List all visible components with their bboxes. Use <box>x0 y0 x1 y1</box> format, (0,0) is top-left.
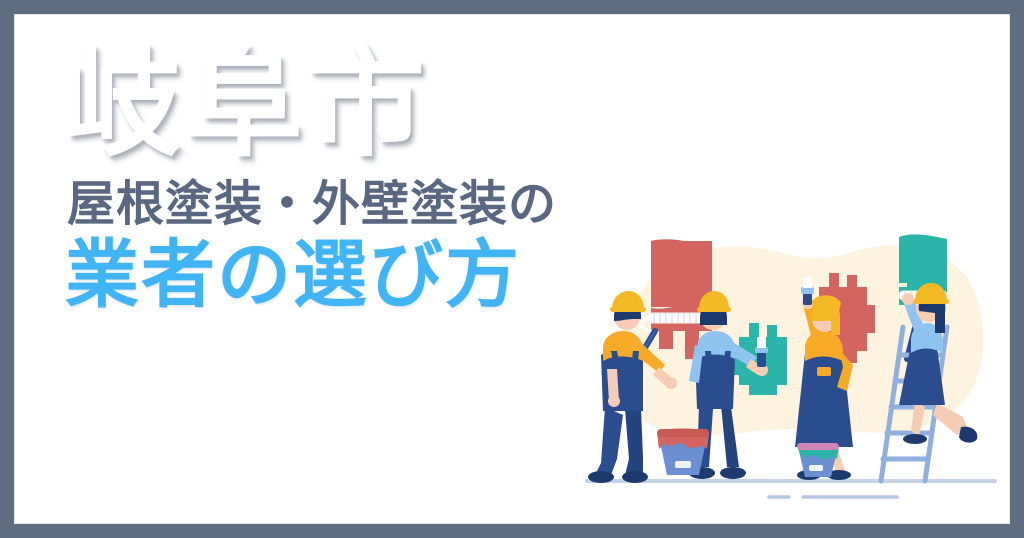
city-title: 岐阜市 <box>53 45 613 163</box>
banner-inner: 岐阜市 屋根塗装・外壁塗装の 業者の選び方 <box>14 14 1010 524</box>
banner-frame: 岐阜市 屋根塗装・外壁塗装の 業者の選び方 <box>0 0 1024 538</box>
headline-text: 業者の選び方 <box>65 234 613 317</box>
subtitle-text: 屋根塗装・外壁塗装の <box>67 177 613 232</box>
text-block: 岐阜市 屋根塗装・外壁塗装の 業者の選び方 <box>53 45 613 465</box>
house-painters-illustration <box>581 209 1001 519</box>
